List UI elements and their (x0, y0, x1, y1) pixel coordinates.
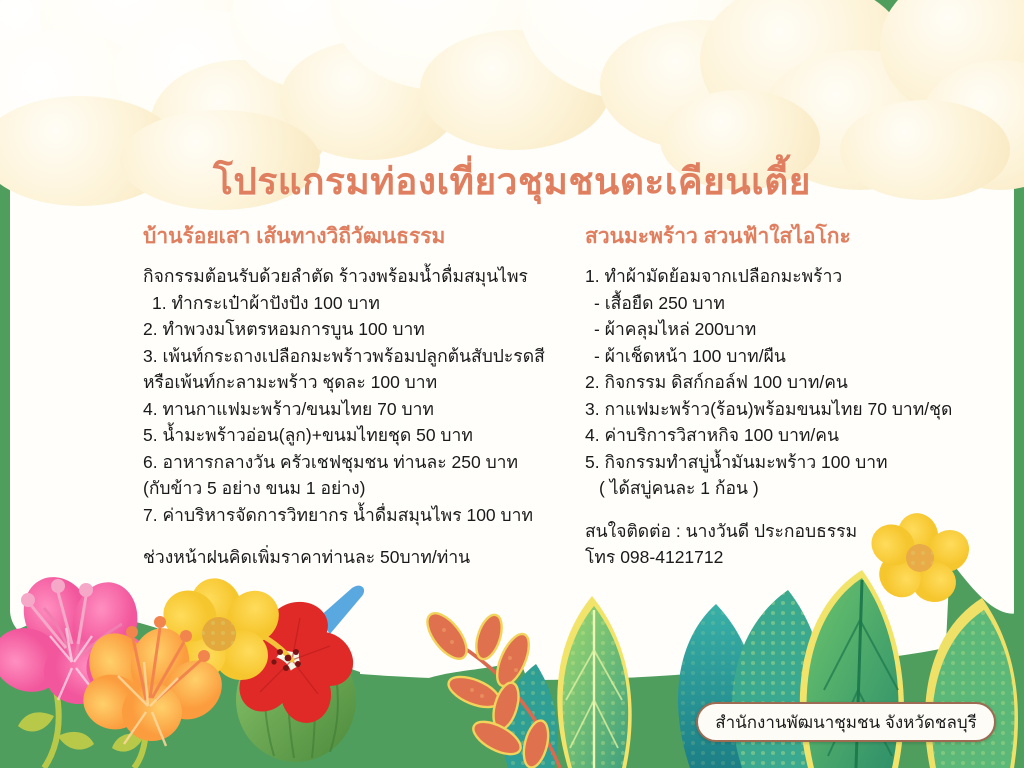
left-line-3: 3. เพ้นท์กระถางเปลือกมะพร้าวพร้อมปลูกต้น… (143, 343, 573, 370)
left-line-0: กิจกรรมต้อนรับด้วยลำตัด ร้าวงพร้อมน้ำดื่… (143, 263, 573, 290)
left-column-heading: บ้านร้อยเสา เส้นทางวิถีวัฒนธรรม (143, 224, 573, 249)
left-line-2: 2. ทำพวงมโหตรหอมการบูน 100 บาท (143, 316, 573, 343)
left-line-8: (กับข้าว 5 อย่าง ขนม 1 อย่าง) (143, 475, 573, 502)
right-line-2: - ผ้าคลุมไหล่ 200บาท (585, 316, 995, 343)
left-column: บ้านร้อยเสา เส้นทางวิถีวัฒนธรรม กิจกรรมต… (143, 224, 573, 571)
organization-badge-label: สำนักงานพัฒนาชุมชน จังหวัดชลบุรี (715, 709, 977, 736)
left-line-spacer (143, 528, 573, 544)
right-line-0: 1. ทำผ้ามัดย้อมจากเปลือกมะพร้าว (585, 263, 995, 290)
organization-badge: สำนักงานพัฒนาชุมชน จังหวัดชลบุรี (696, 702, 996, 742)
left-line-5: 4. ทานกาแฟมะพร้าว/ขนมไทย 70 บาท (143, 396, 573, 423)
right-column-list: 1. ทำผ้ามัดย้อมจากเปลือกมะพร้าว - เสื้อย… (585, 263, 995, 571)
contact-phone[interactable]: โทร 098-4121712 (585, 544, 995, 571)
right-line-5: 3. กาแฟมะพร้าว(ร้อน)พร้อมขนมไทย 70 บาท/ช… (585, 396, 995, 423)
left-line-6: 5. น้ำมะพร้าวอ่อน(ลูก)+ขนมไทยชุด 50 บาท (143, 422, 573, 449)
right-line-4: 2. กิจกรรม ดิสก์กอล์ฟ 100 บาท/คน (585, 369, 995, 396)
left-line-11: ช่วงหน้าฝนคิดเพิ่มราคาท่านละ 50บาท/ท่าน (143, 544, 573, 571)
left-line-7: 6. อาหารกลางวัน ครัวเชฟชุมชน ท่านละ 250 … (143, 449, 573, 476)
right-line-6: 4. ค่าบริการวิสาหกิจ 100 บาท/คน (585, 422, 995, 449)
right-line-1: - เสื้อยืด 250 บาท (585, 290, 995, 317)
right-column: สวนมะพร้าว สวนฟ้าใสไอโกะ 1. ทำผ้ามัดย้อม… (585, 224, 995, 571)
right-line-spacer (585, 502, 995, 518)
poster-title: โปรแกรมท่องเที่ยวชุมชนตะเคียนเตี้ย (0, 152, 1024, 211)
right-line-3: - ผ้าเช็ดหน้า 100 บาท/ผืน (585, 343, 995, 370)
right-line-8: ( ได้สบู่คนละ 1 ก้อน ) (585, 475, 995, 502)
left-column-list: กิจกรรมต้อนรับด้วยลำตัด ร้าวงพร้อมน้ำดื่… (143, 263, 573, 571)
right-line-7: 5. กิจกรรมทำสบู่น้ำมันมะพร้าว 100 บาท (585, 449, 995, 476)
left-line-4: หรือเพ้นท์กะลามะพร้าว ชุดละ 100 บาท (143, 369, 573, 396)
contact-name: สนใจติดต่อ : นางวันดี ประกอบธรรม (585, 518, 995, 545)
right-column-heading: สวนมะพร้าว สวนฟ้าใสไอโกะ (585, 224, 995, 249)
left-line-9: 7. ค่าบริหารจัดการวิทยากร น้ำดื่มสมุนไพร… (143, 502, 573, 529)
poster-canvas: โปรแกรมท่องเที่ยวชุมชนตะเคียนเตี้ย บ้านร… (0, 0, 1024, 768)
left-line-1: 1. ทำกระเป๋าผ้าปังปัง 100 บาท (143, 290, 573, 317)
